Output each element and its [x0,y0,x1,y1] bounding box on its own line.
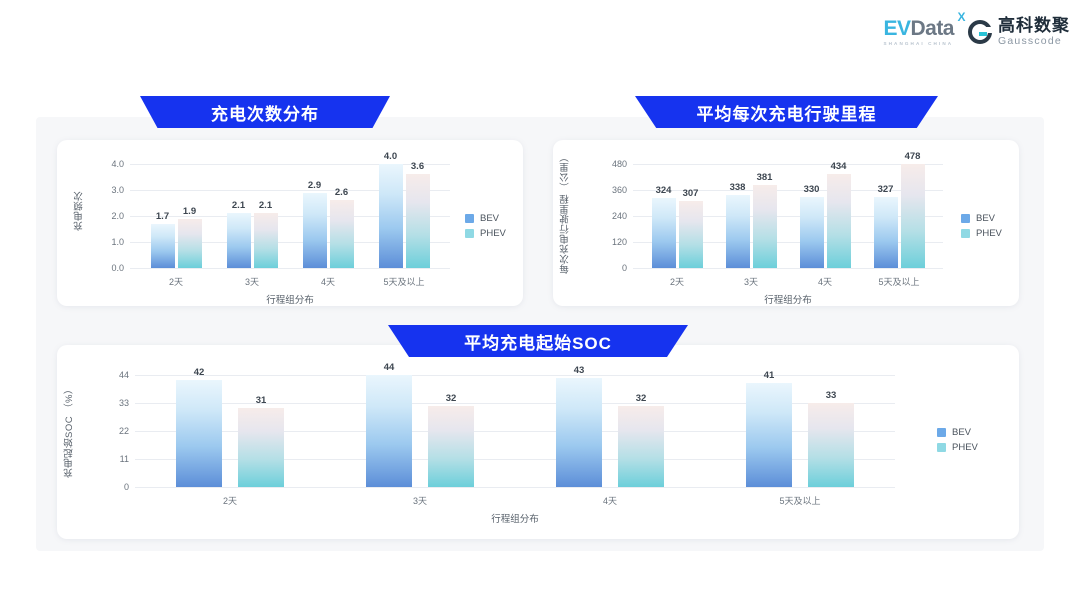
bar-bev[interactable] [874,197,898,268]
legend: BEVPHEV [961,213,1002,239]
bar-phev[interactable] [679,201,703,268]
y-axis-tick: 0.0 [111,263,124,273]
bar-value-label: 43 [574,365,585,376]
bar-bev[interactable] [726,195,750,268]
evdata-prefix: EV [883,17,910,40]
evdata-suffix: Data [910,17,954,40]
x-axis-tick: 5天及以上 [779,494,820,507]
chart-charging-frequency: 充电频次0.01.02.03.04.01.71.92天2.12.13天2.92.… [57,140,523,306]
chart-start-soc: 充电起始SOC（%）01122334442312天44323天43324天413… [57,345,1019,539]
banner-title-1: 充电次数分布 [211,100,319,125]
gausscode-logo: 高科数聚 Gausscode [968,17,1070,47]
legend-swatch-phev [937,443,946,452]
legend-item-phev[interactable]: PHEV [465,228,506,239]
bar-value-label: 41 [764,370,775,381]
y-axis-tick: 3.0 [111,185,124,195]
legend-label-bev: BEV [976,213,995,224]
legend-swatch-phev [961,229,970,238]
bar-bev[interactable] [746,383,792,487]
bar-phev[interactable] [238,408,284,487]
bar-bev[interactable] [556,378,602,487]
legend-swatch-bev [961,214,970,223]
bar-value-label: 1.9 [183,206,196,217]
bar-value-label: 44 [384,362,395,373]
bar-value-label: 4.0 [384,151,397,162]
chart-mileage-per-charge: 每次充电行驶里程（公里）01202403604803243072天3383813… [553,140,1019,306]
bar-value-label: 1.7 [156,211,169,222]
banner-mileage-per-charge: 平均每次充电行驶里程 [635,96,938,128]
y-axis-label: 充电频次 [73,176,87,246]
y-axis-tick: 0 [622,263,627,273]
gausscode-g-mark-icon [968,20,992,44]
legend: BEVPHEV [937,427,978,453]
legend-label-phev: PHEV [952,442,978,453]
legend-swatch-bev [465,214,474,223]
legend-item-phev[interactable]: PHEV [961,228,1002,239]
bar-value-label: 381 [757,172,773,183]
bar-value-label: 31 [256,395,267,406]
legend-label-phev: PHEV [976,228,1002,239]
legend-item-phev[interactable]: PHEV [937,442,978,453]
x-axis-tick: 2天 [223,494,237,507]
bar-phev[interactable] [827,174,851,268]
gausscode-wordmark: 高科数聚 Gausscode [998,17,1070,47]
legend-label-phev: PHEV [480,228,506,239]
y-axis-label: 充电起始SOC（%） [63,373,77,489]
bar-bev[interactable] [652,198,676,268]
y-axis-label-line-1: 每次充电行驶里程 [559,194,573,274]
y-axis-tick: 1.0 [111,237,124,247]
bar-bev[interactable] [227,213,251,268]
y-axis-label-line-2: （公里） [559,152,573,192]
y-axis-tick: 360 [612,185,627,195]
gridline [633,190,943,191]
evdata-wordmark: EVData X [883,18,954,39]
x-axis-tick: 4天 [818,275,832,288]
bar-value-label: 2.1 [232,200,245,211]
gridline [633,268,943,269]
y-axis-tick: 44 [119,370,129,380]
bar-value-label: 2.6 [335,187,348,198]
y-axis-label-line-2: （%） [63,384,77,413]
x-axis-label: 行程组分布 [633,292,943,306]
bar-value-label: 2.9 [308,180,321,191]
bar-phev[interactable] [753,185,777,268]
bar-bev[interactable] [151,224,175,268]
gridline [135,375,895,376]
bar-value-label: 307 [683,188,699,199]
bar-phev[interactable] [901,164,925,268]
x-axis-label: 行程组分布 [135,511,895,525]
y-axis-tick: 0 [124,482,129,492]
legend-item-bev[interactable]: BEV [961,213,1002,224]
bar-bev[interactable] [379,164,403,268]
x-axis-label: 行程组分布 [130,292,450,306]
bar-phev[interactable] [808,403,854,487]
y-axis-tick: 4.0 [111,159,124,169]
x-axis-tick: 5天及以上 [878,275,919,288]
y-axis-tick: 22 [119,426,129,436]
plot-area: 01122334442312天44323天43324天41335天及以上行程组分… [135,375,895,487]
legend-swatch-phev [465,229,474,238]
x-axis-tick: 4天 [321,275,335,288]
evdata-tagline: SHANGHAI CHINA [883,42,953,47]
bar-value-label: 330 [804,184,820,195]
x-axis-tick: 5天及以上 [383,275,424,288]
bar-value-label: 33 [826,390,837,401]
legend-item-bev[interactable]: BEV [937,427,978,438]
legend: BEVPHEV [465,213,506,239]
evdata-logo: EVData X SHANGHAI CHINA [883,18,954,47]
bar-phev[interactable] [178,219,202,268]
legend-swatch-bev [937,428,946,437]
logo-bar: EVData X SHANGHAI CHINA 高科数聚 Gausscode [883,12,1070,52]
gausscode-name-cn: 高科数聚 [998,17,1070,34]
x-axis-tick: 3天 [744,275,758,288]
bar-value-label: 32 [636,393,647,404]
banner-charging-frequency: 充电次数分布 [140,96,390,128]
bar-phev[interactable] [330,200,354,268]
bar-bev[interactable] [800,197,824,269]
plot-area: 0.01.02.03.04.01.71.92天2.12.13天2.92.64天4… [130,164,450,268]
bar-value-label: 327 [878,184,894,195]
bar-bev[interactable] [366,375,412,487]
bar-value-label: 3.6 [411,161,424,172]
bar-value-label: 478 [905,151,921,162]
y-axis-label: 每次充电行驶里程（公里） [559,158,573,268]
plot-area: 01202403604803243072天3383813天3304344天327… [633,164,943,268]
bar-bev[interactable] [303,193,327,268]
legend-item-bev[interactable]: BEV [465,213,506,224]
legend-label-bev: BEV [480,213,499,224]
gausscode-name-en: Gausscode [998,36,1070,47]
x-axis-tick: 2天 [670,275,684,288]
gridline [135,487,895,488]
bar-value-label: 42 [194,367,205,378]
y-axis-label-line-1: 充电起始SOC [63,415,77,477]
y-axis-tick: 2.0 [111,211,124,221]
x-axis-tick: 3天 [413,494,427,507]
bar-phev[interactable] [406,174,430,268]
evdata-superscript-icon: X [957,11,965,23]
y-axis-tick: 240 [612,211,627,221]
x-axis-tick: 3天 [245,275,259,288]
y-axis-tick: 120 [612,237,627,247]
banner-title-2: 平均每次充电行驶里程 [697,100,877,125]
bar-value-label: 434 [831,161,847,172]
bar-value-label: 32 [446,393,457,404]
bar-value-label: 2.1 [259,200,272,211]
y-axis-tick: 11 [120,454,129,464]
bar-value-label: 338 [730,182,746,193]
gridline [130,268,450,269]
bar-value-label: 324 [656,185,672,196]
bar-phev[interactable] [618,406,664,487]
gridline [633,164,943,165]
y-axis-tick: 480 [612,159,627,169]
bar-bev[interactable] [176,380,222,487]
legend-label-bev: BEV [952,427,971,438]
y-axis-tick: 33 [119,398,129,408]
bar-phev[interactable] [428,406,474,487]
bar-phev[interactable] [254,213,278,268]
x-axis-tick: 4天 [603,494,617,507]
x-axis-tick: 2天 [169,275,183,288]
